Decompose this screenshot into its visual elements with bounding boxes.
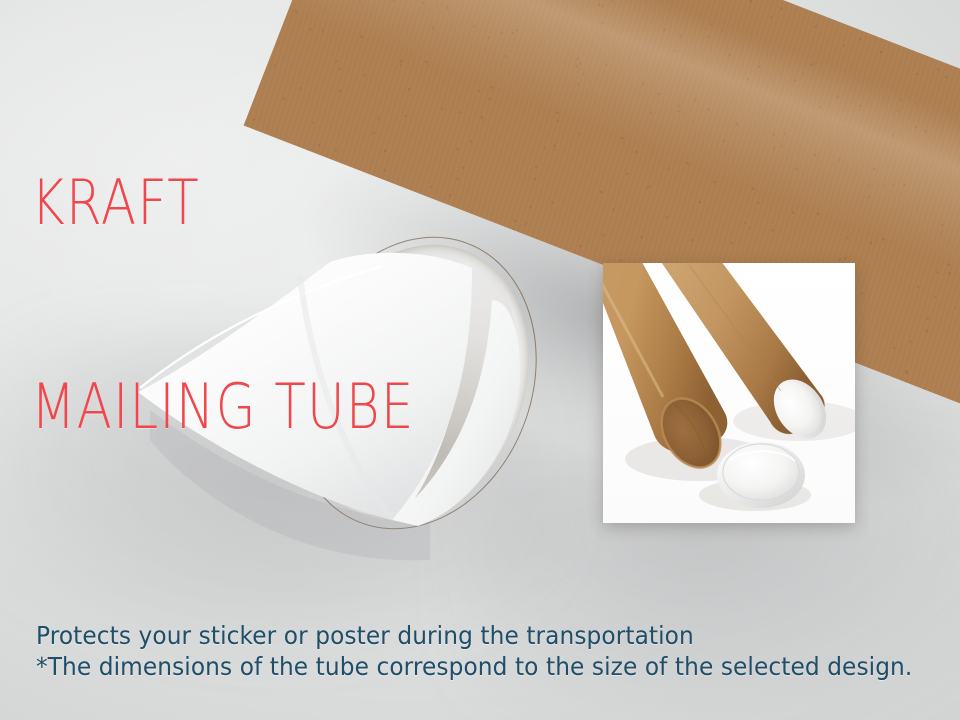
feature-line-1: Protects your sticker or poster during t…: [36, 620, 756, 652]
headline-line-2: MAILING TUBE: [31, 373, 415, 441]
feature-line-2: Plastic end caps fit tightly to secure t…: [36, 716, 756, 720]
page-title: KRAFT MAILING TUBE: [31, 33, 415, 577]
inset-photo-artwork: [603, 263, 855, 523]
feature-description: Protects your sticker or poster during t…: [36, 556, 756, 720]
headline-line-1: KRAFT: [31, 169, 415, 237]
product-detail-photo: [603, 263, 855, 523]
product-promo-image: KRAFT MAILING TUBE Protects your sticker…: [0, 0, 960, 720]
footnote-text: *The dimensions of the tube correspond t…: [36, 652, 912, 682]
loose-plastic-end-cap: [717, 442, 805, 508]
